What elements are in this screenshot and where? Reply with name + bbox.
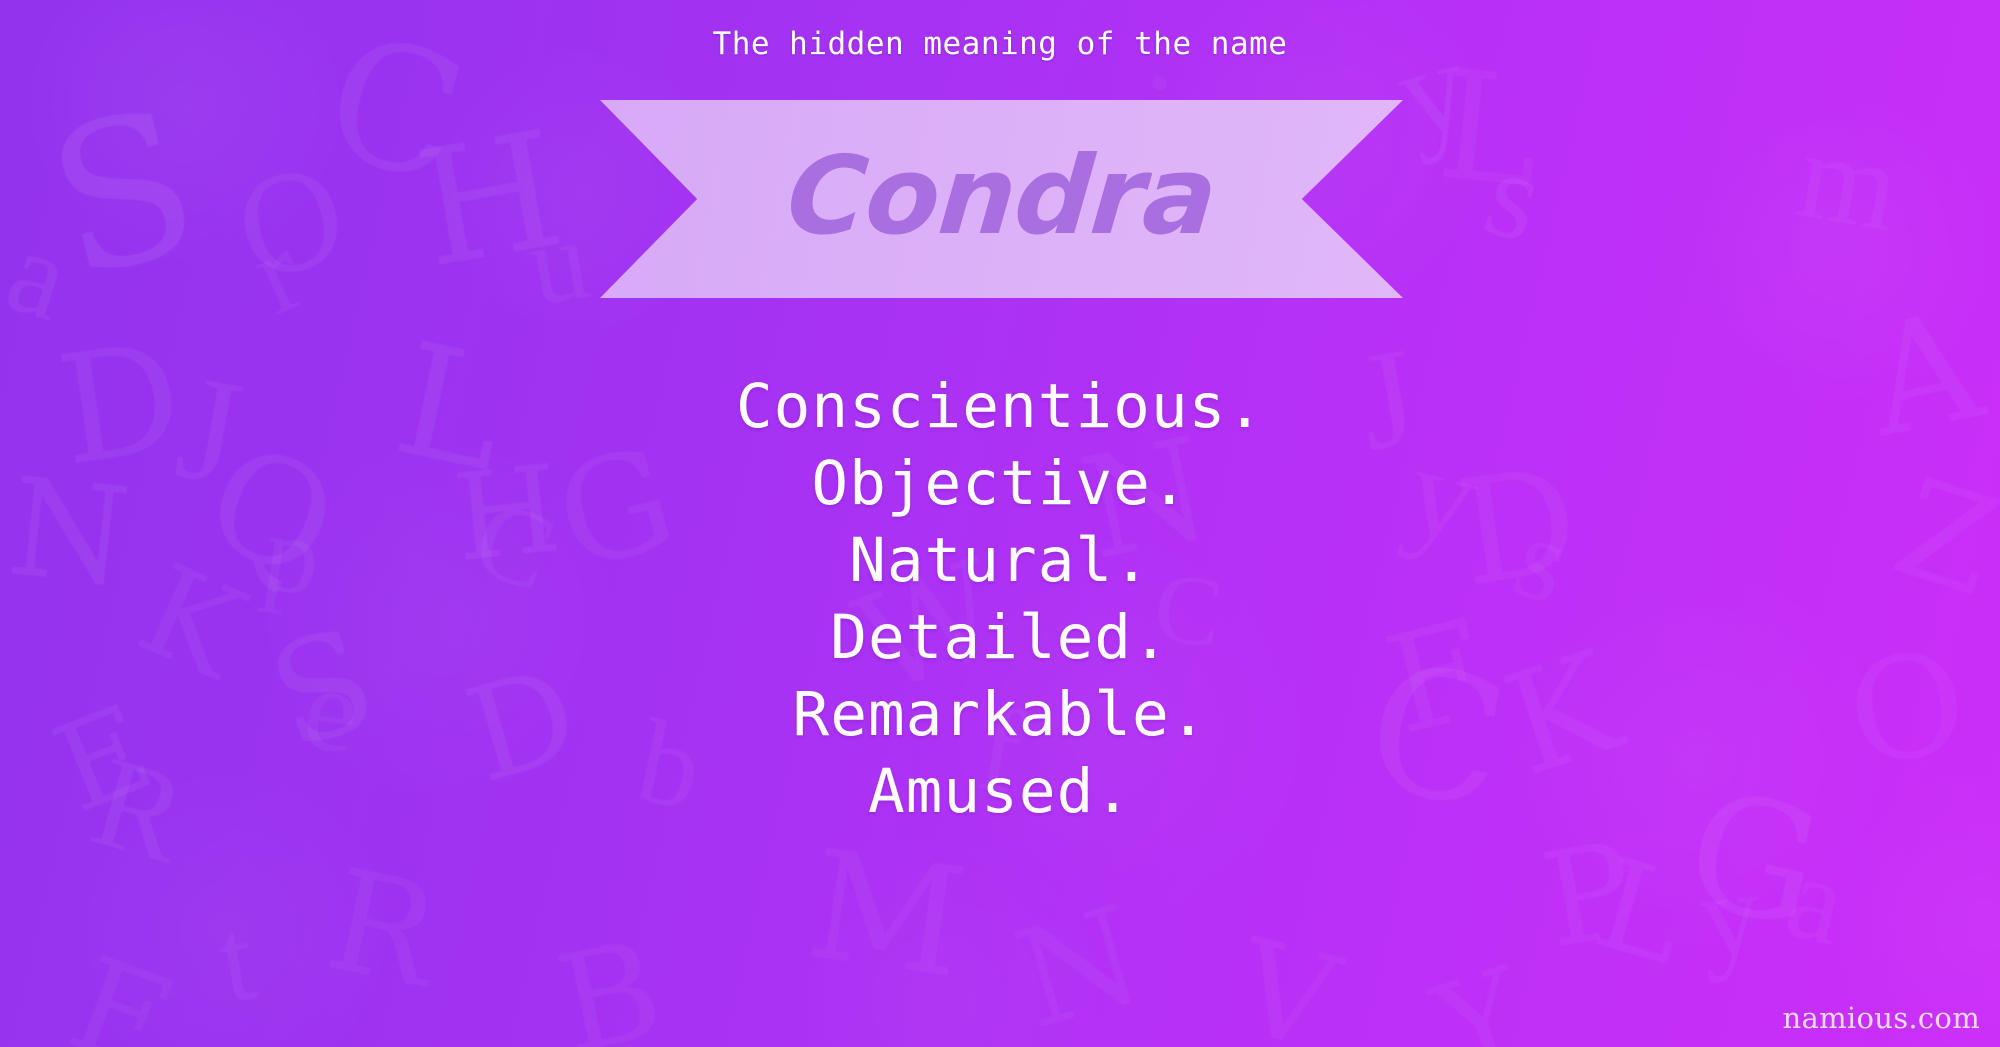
background-letter: a [1776, 835, 1857, 964]
trait-line: Remarkable. [0, 676, 2000, 753]
background-letter: S [33, 81, 214, 308]
background-letter: B [547, 921, 672, 1047]
background-letter: H [407, 109, 572, 291]
background-letter: u [521, 201, 596, 324]
trait-line: Natural. [0, 522, 2000, 599]
trait-line: Detailed. [0, 599, 2000, 676]
trait-line: Objective. [0, 445, 2000, 522]
background-letter: a [0, 210, 83, 341]
name-ribbon: Condra [600, 100, 1403, 298]
trait-line: Amused. [0, 753, 2000, 830]
background-letter: s [1472, 131, 1557, 265]
background-letter: R [317, 851, 449, 1010]
trait-list: Conscientious.Objective.Natural.Detailed… [0, 368, 2000, 830]
background-letter: P [1534, 823, 1643, 966]
site-watermark: namious.com [1783, 1001, 1980, 1035]
background-letter: N [1004, 886, 1155, 1047]
background-letter: t [210, 898, 264, 1022]
trait-line: Conscientious. [0, 368, 2000, 445]
name-text: Condra [591, 100, 1411, 298]
background-blob [1680, 90, 2000, 410]
background-letter: L [1584, 841, 1698, 984]
background-letter: r [236, 212, 318, 333]
background-letter: E [56, 938, 190, 1047]
name-meaning-card: SaDNERJOQSeCHLHCrpDKuZGbWfNCysLJyDsFCKGP… [0, 0, 2000, 1047]
background-letter: O [226, 150, 357, 299]
background-letter: M [800, 830, 973, 1000]
background-blob [760, 820, 1120, 1047]
background-letter: y [1694, 852, 1766, 978]
background-letter: V [1226, 921, 1349, 1047]
background-letter: L [1432, 50, 1547, 210]
background-letter: Y [1423, 950, 1540, 1047]
background-letter: m [1790, 113, 1907, 253]
page-title: The hidden meaning of the name [0, 26, 2000, 62]
